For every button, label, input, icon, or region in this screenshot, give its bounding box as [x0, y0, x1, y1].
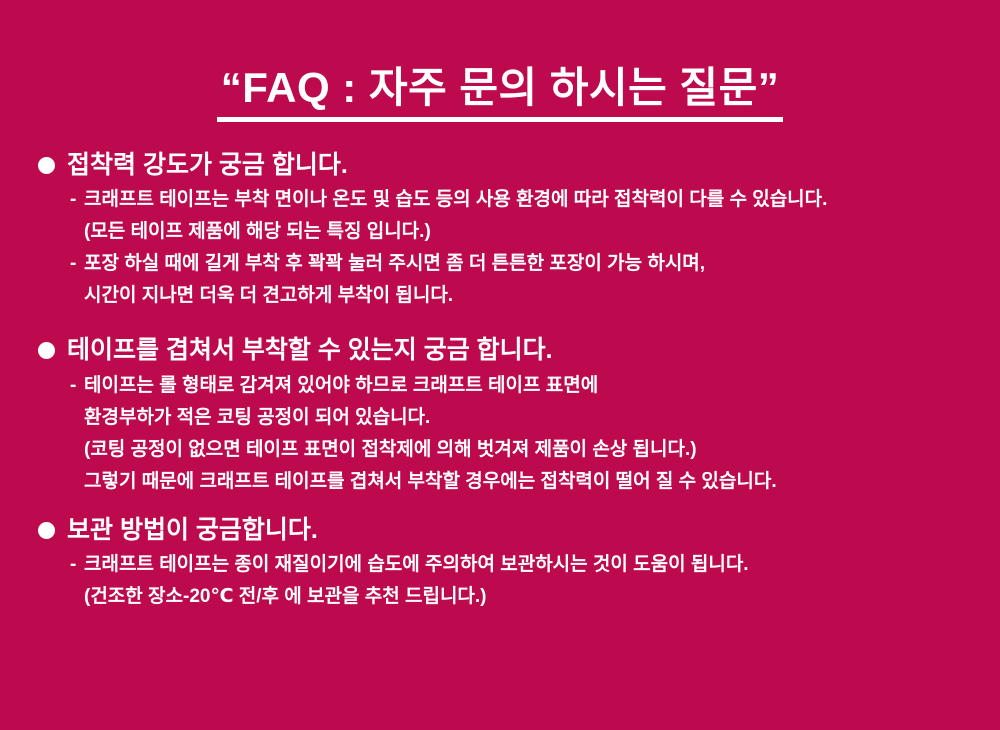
faq-question-text: 보관 방법이 궁금합니다.: [67, 515, 318, 546]
faq-answer-text: 그렇기 때문에 크래프트 테이프를 겹쳐서 부착할 경우에는 접착력이 떨어 질…: [84, 472, 777, 491]
faq-answer-line: -테이프는 롤 형태로 감겨져 있어야 하므로 크래프트 테이프 표면에: [70, 376, 1000, 395]
faq-answer-text: (모든 테이프 제품에 해당 되는 특징 입니다.): [84, 222, 431, 241]
faq-answer-line: -시간이 지나면 더욱 더 견고하게 부착이 됩니다.: [70, 286, 1000, 305]
faq-answer-line: -(건조한 장소-20℃ 전/후 에 보관을 추천 드립니다.): [70, 587, 1000, 606]
faq-answer-list: -크래프트 테이프는 종이 재질이기에 습도에 주의하여 보관하시는 것이 도움…: [38, 555, 1000, 606]
faq-answer-line: -크래프트 테이프는 부착 면이나 온도 및 습도 등의 사용 환경에 따라 접…: [70, 190, 1000, 209]
faq-answer-line: -크래프트 테이프는 종이 재질이기에 습도에 주의하여 보관하시는 것이 도움…: [70, 555, 1000, 574]
faq-answer-line: -그렇기 때문에 크래프트 테이프를 겹쳐서 부착할 경우에는 접착력이 떨어 …: [70, 472, 1000, 491]
bullet-circle-icon: [38, 522, 55, 539]
faq-answer-line: -포장 하실 때에 길게 부착 후 꽉꽉 눌러 주시면 좀 더 튼튼한 포장이 …: [70, 254, 1000, 273]
faq-section: 테이프를 겹쳐서 부착할 수 있는지 궁금 합니다.-테이프는 롤 형태로 감겨…: [0, 335, 1000, 490]
faq-answer-text: (건조한 장소-20℃ 전/후 에 보관을 추천 드립니다.): [84, 587, 487, 606]
faq-question-row[interactable]: 테이프를 겹쳐서 부착할 수 있는지 궁금 합니다.: [38, 335, 1000, 366]
faq-answer-text: 시간이 지나면 더욱 더 견고하게 부착이 됩니다.: [84, 286, 453, 305]
faq-section: 보관 방법이 궁금합니다.-크래프트 테이프는 종이 재질이기에 습도에 주의하…: [0, 515, 1000, 606]
faq-answer-list: -크래프트 테이프는 부착 면이나 온도 및 습도 등의 사용 환경에 따라 접…: [38, 190, 1000, 305]
page-title: “FAQ : 자주 문의 하시는 질문”: [217, 66, 783, 122]
faq-section-list: 접착력 강도가 궁금 합니다.-크래프트 테이프는 부착 면이나 온도 및 습도…: [0, 150, 1000, 606]
faq-answer-line: -환경부하가 적은 코팅 공정이 되어 있습니다.: [70, 408, 1000, 427]
faq-question-row[interactable]: 보관 방법이 궁금합니다.: [38, 515, 1000, 546]
bullet-circle-icon: [38, 342, 55, 359]
faq-answer-text: 테이프는 롤 형태로 감겨져 있어야 하므로 크래프트 테이프 표면에: [84, 376, 598, 395]
bullet-circle-icon: [38, 157, 55, 174]
answer-dash-marker: -: [70, 254, 84, 273]
faq-answer-text: 포장 하실 때에 길게 부착 후 꽉꽉 눌러 주시면 좀 더 튼튼한 포장이 가…: [84, 254, 705, 273]
answer-dash-marker: -: [70, 376, 84, 395]
faq-answer-line: -(코팅 공정이 없으면 테이프 표면이 접착제에 의해 벗겨져 제품이 손상 …: [70, 440, 1000, 459]
faq-answer-text: (코팅 공정이 없으면 테이프 표면이 접착제에 의해 벗겨져 제품이 손상 됩…: [84, 440, 697, 459]
answer-dash-marker: -: [70, 555, 84, 574]
faq-page: “FAQ : 자주 문의 하시는 질문” 접착력 강도가 궁금 합니다.-크래프…: [0, 0, 1000, 730]
page-title-container: “FAQ : 자주 문의 하시는 질문”: [0, 38, 1000, 150]
answer-dash-marker: -: [70, 190, 84, 209]
faq-question-row[interactable]: 접착력 강도가 궁금 합니다.: [38, 150, 1000, 181]
faq-section: 접착력 강도가 궁금 합니다.-크래프트 테이프는 부착 면이나 온도 및 습도…: [0, 150, 1000, 305]
faq-answer-text: 환경부하가 적은 코팅 공정이 되어 있습니다.: [84, 408, 430, 427]
faq-answer-list: -테이프는 롤 형태로 감겨져 있어야 하므로 크래프트 테이프 표면에-환경부…: [38, 376, 1000, 491]
faq-answer-text: 크래프트 테이프는 부착 면이나 온도 및 습도 등의 사용 환경에 따라 접착…: [84, 190, 827, 209]
faq-answer-line: -(모든 테이프 제품에 해당 되는 특징 입니다.): [70, 222, 1000, 241]
faq-answer-text: 크래프트 테이프는 종이 재질이기에 습도에 주의하여 보관하시는 것이 도움이…: [84, 555, 749, 574]
faq-question-text: 접착력 강도가 궁금 합니다.: [67, 150, 348, 181]
faq-question-text: 테이프를 겹쳐서 부착할 수 있는지 궁금 합니다.: [67, 335, 553, 366]
